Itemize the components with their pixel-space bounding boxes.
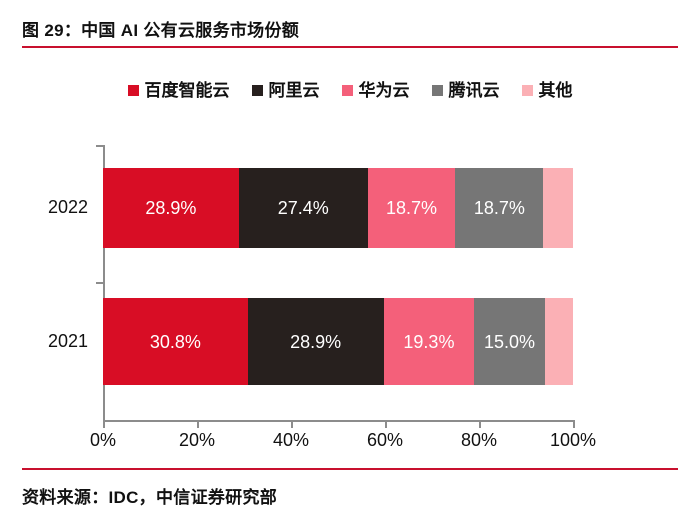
- legend-swatch-icon: [522, 85, 533, 96]
- bar-row: 30.8%28.9%19.3%15.0%: [103, 298, 573, 385]
- bar-segment[interactable]: 28.9%: [248, 298, 384, 385]
- bar-segment[interactable]: [545, 298, 573, 385]
- bar-segment[interactable]: [543, 168, 573, 248]
- x-axis-tick: [573, 420, 575, 428]
- bar-segment[interactable]: 27.4%: [239, 168, 368, 248]
- legend-item-label: 华为云: [359, 82, 410, 99]
- legend-swatch-icon: [342, 85, 353, 96]
- bar-segment[interactable]: 19.3%: [384, 298, 475, 385]
- legend-item[interactable]: 其他: [522, 82, 573, 99]
- y-axis-category-label: 2022: [48, 197, 88, 218]
- legend-item-label: 腾讯云: [449, 82, 500, 99]
- legend-swatch-icon: [432, 85, 443, 96]
- x-axis-tick: [103, 420, 105, 428]
- legend-item[interactable]: 腾讯云: [432, 82, 500, 99]
- x-axis-tick: [291, 420, 293, 428]
- legend-item[interactable]: 百度智能云: [128, 82, 230, 99]
- x-axis-tick-label: 20%: [179, 430, 215, 451]
- x-axis-line: [103, 420, 574, 422]
- bar-segment-value-label: 15.0%: [484, 333, 535, 351]
- bar-segment-value-label: 19.3%: [403, 333, 454, 351]
- x-axis-tick: [479, 420, 481, 428]
- chart-plot-area: 0%20%40%60%80%100% 20222021 28.9%27.4%18…: [0, 130, 700, 430]
- bar-segment-value-label: 30.8%: [150, 333, 201, 351]
- legend-swatch-icon: [128, 85, 139, 96]
- source-divider: [22, 468, 678, 470]
- legend-item-label: 其他: [539, 82, 573, 99]
- bar-segment-value-label: 28.9%: [145, 199, 196, 217]
- x-axis-tick-label: 100%: [550, 430, 596, 451]
- page-title: 图 29：中国 AI 公有云服务市场份额: [22, 16, 299, 41]
- bar-segment[interactable]: 28.9%: [103, 168, 239, 248]
- y-axis-tick-middle: [96, 282, 104, 284]
- legend-item-label: 百度智能云: [145, 82, 230, 99]
- x-axis-tick-label: 0%: [90, 430, 116, 451]
- x-axis-tick: [385, 420, 387, 428]
- x-axis-tick: [197, 420, 199, 428]
- legend-item[interactable]: 阿里云: [252, 82, 320, 99]
- chart-legend: 百度智能云阿里云华为云腾讯云其他: [0, 82, 700, 99]
- bar-segment[interactable]: 18.7%: [455, 168, 543, 248]
- bar-segment[interactable]: 30.8%: [103, 298, 248, 385]
- bar-row: 28.9%27.4%18.7%18.7%: [103, 168, 573, 248]
- bar-segment-value-label: 18.7%: [474, 199, 525, 217]
- bar-segment[interactable]: 15.0%: [474, 298, 545, 385]
- legend-item-label: 阿里云: [269, 82, 320, 99]
- source-note: 资料来源：IDC，中信证券研究部: [22, 483, 277, 508]
- y-axis-tick-top: [96, 145, 104, 147]
- bar-segment[interactable]: 18.7%: [368, 168, 456, 248]
- bar-segment-value-label: 27.4%: [278, 199, 329, 217]
- legend-item[interactable]: 华为云: [342, 82, 410, 99]
- x-axis-tick-label: 40%: [273, 430, 309, 451]
- title-divider: [22, 46, 678, 48]
- y-axis-category-label: 2021: [48, 331, 88, 352]
- bar-segment-value-label: 18.7%: [386, 199, 437, 217]
- legend-swatch-icon: [252, 85, 263, 96]
- x-axis-tick-label: 80%: [461, 430, 497, 451]
- bar-segment-value-label: 28.9%: [290, 333, 341, 351]
- x-axis-tick-label: 60%: [367, 430, 403, 451]
